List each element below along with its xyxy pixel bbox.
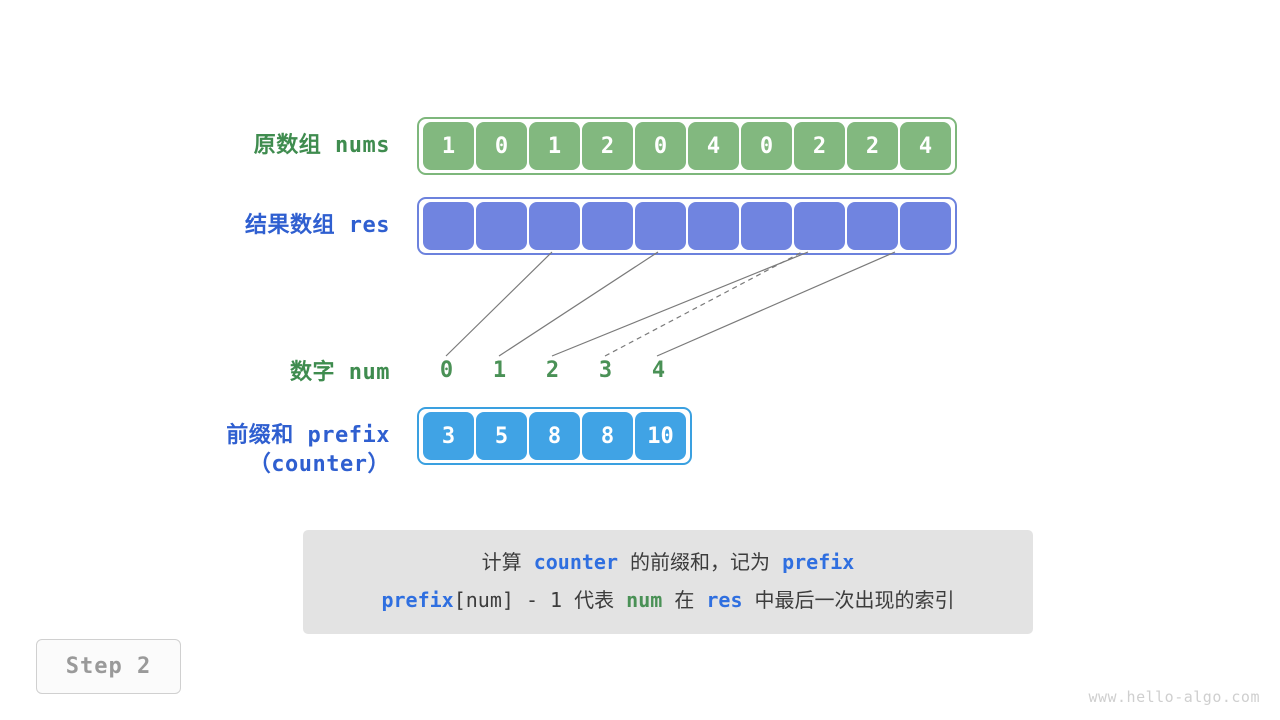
step-badge: Step 2 (36, 639, 181, 694)
nums-cell-7: 2 (794, 122, 845, 170)
nums-cell-5: 4 (688, 122, 739, 170)
num-digit-1: 1 (473, 358, 526, 383)
res-cell-2 (529, 202, 580, 250)
caption-l1-keyword-counter: counter (534, 550, 618, 574)
num-4-to-res-index-10 (657, 252, 895, 356)
prefix-cell-2: 8 (529, 412, 580, 460)
res-cell-5 (688, 202, 739, 250)
caption-l2-seg2: 在 (662, 588, 706, 612)
prefix-cell-0: 3 (423, 412, 474, 460)
caption-box: 计算 counter 的前缀和，记为 prefix prefix[num] - … (303, 530, 1033, 634)
res-array (417, 197, 957, 255)
num-0-to-res-index-3 (446, 252, 552, 356)
caption-l2-keyword-num: num (626, 588, 662, 612)
nums-cell-0: 1 (423, 122, 474, 170)
nums-cell-9: 4 (900, 122, 951, 170)
prefix-cell-3: 8 (582, 412, 633, 460)
res-row-label: 结果数组 res (140, 211, 390, 240)
footer-url: www.hello-algo.com (1088, 688, 1260, 706)
res-cell-6 (741, 202, 792, 250)
caption-l2-seg3: 中最后一次出现的索引 (743, 588, 955, 612)
num-digit-2: 2 (526, 358, 579, 383)
nums-row-label: 原数组 nums (140, 131, 390, 160)
res-cell-3 (582, 202, 633, 250)
num-digit-4: 4 (632, 358, 685, 383)
nums-cell-2: 1 (529, 122, 580, 170)
caption-l2-keyword-res: res (706, 588, 742, 612)
diagram-canvas: 原数组 nums 1012040224 结果数组 res 数字 num 0123… (0, 0, 1280, 720)
num-digit-3: 3 (579, 358, 632, 383)
prefix-label-line1: 前缀和 prefix (100, 421, 390, 450)
caption-l2-seg1: [num] - 1 代表 (454, 588, 626, 612)
nums-cell-1: 0 (476, 122, 527, 170)
res-cell-0 (423, 202, 474, 250)
caption-l1-seg2: 的前缀和，记为 (618, 550, 782, 574)
caption-line-1: 计算 counter 的前缀和，记为 prefix (313, 543, 1023, 581)
nums-array: 1012040224 (417, 117, 957, 175)
num-digits-row: 01234 (420, 358, 685, 383)
nums-cell-3: 2 (582, 122, 633, 170)
res-cell-8 (847, 202, 898, 250)
num-2-to-res-index-8 (552, 252, 808, 356)
prefix-array: 358810 (417, 407, 692, 465)
caption-l1-seg1: 计算 (482, 550, 534, 574)
prefix-row-label: 前缀和 prefix （counter） (100, 421, 390, 479)
res-cell-1 (476, 202, 527, 250)
caption-line-2: prefix[num] - 1 代表 num 在 res 中最后一次出现的索引 (313, 581, 1023, 619)
num-row-label: 数字 num (130, 358, 390, 387)
res-cell-4 (635, 202, 686, 250)
num-digit-0: 0 (420, 358, 473, 383)
prefix-cell-1: 5 (476, 412, 527, 460)
nums-cell-4: 0 (635, 122, 686, 170)
prefix-cell-4: 10 (635, 412, 686, 460)
nums-cell-6: 0 (741, 122, 792, 170)
caption-l1-keyword-prefix: prefix (782, 550, 854, 574)
caption-l2-keyword-prefix: prefix (381, 588, 453, 612)
num-3-to-res-index-8 (605, 252, 802, 356)
nums-cell-8: 2 (847, 122, 898, 170)
res-cell-9 (900, 202, 951, 250)
num-1-to-res-index-5 (499, 252, 658, 356)
res-cell-7 (794, 202, 845, 250)
prefix-label-line2: （counter） (100, 450, 390, 479)
